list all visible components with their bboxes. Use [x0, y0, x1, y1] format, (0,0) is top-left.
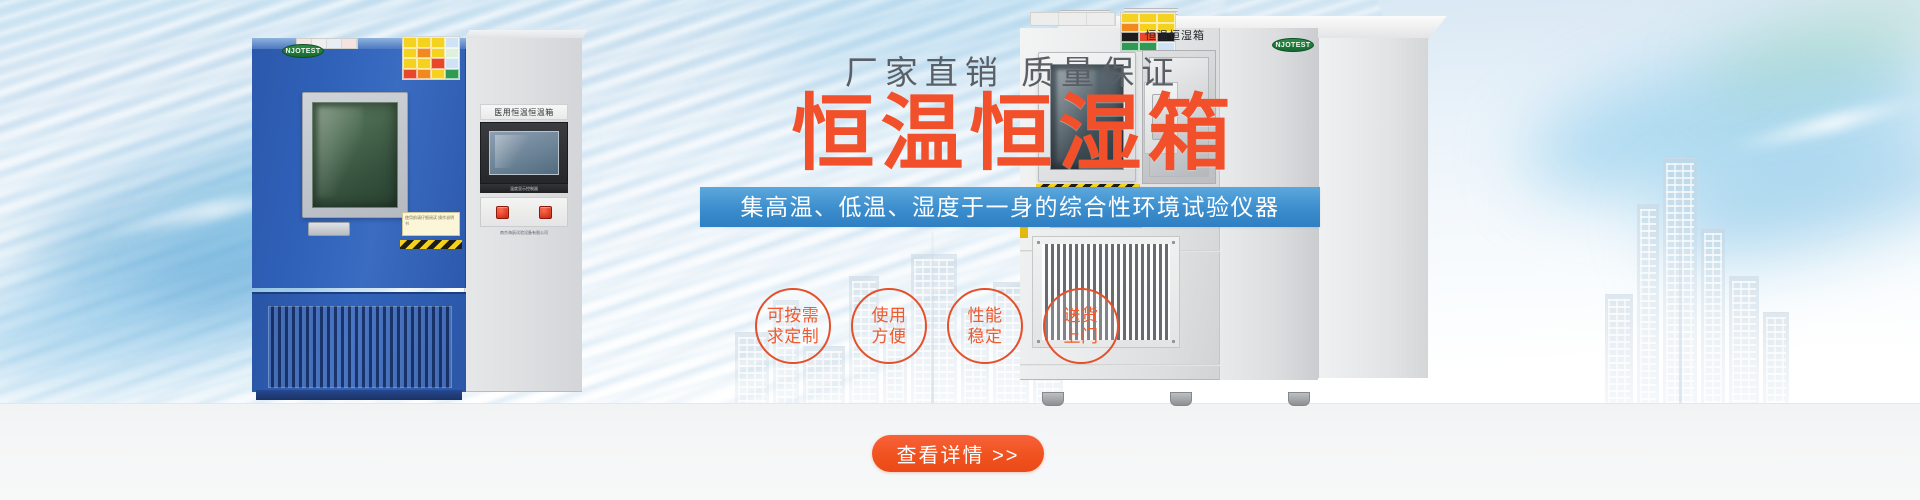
feature-badge-delivery[interactable]: 送货 上门 — [1043, 288, 1119, 364]
control-panel-display — [489, 131, 559, 175]
caster-wheel-icon — [1288, 392, 1310, 406]
manufacturer-line-left: 南京海辰试验设备有限公司 — [480, 228, 568, 237]
left-machine-base-plinth — [256, 390, 462, 400]
feature-badge-easy-use[interactable]: 使用 方便 — [851, 288, 927, 364]
left-machine-front-lower — [252, 292, 466, 392]
badge-line-1: 使用 — [872, 305, 907, 326]
badge-line-2: 上门 — [1064, 326, 1099, 347]
warning-label-strip-right — [1030, 12, 1116, 26]
view-details-button[interactable]: 查看详情 >> — [872, 435, 1044, 472]
power-buttons-row — [480, 197, 568, 227]
feature-badge-stable[interactable]: 性能 稳定 — [947, 288, 1023, 364]
right-machine-far-panel — [1318, 38, 1428, 378]
caster-wheel-icon — [1042, 392, 1064, 406]
product-left-constant-temp-chamber: NJOTEST 使用前请仔细阅读 操作说明书 医用恒温恒温箱 温度显示控制器 南… — [252, 30, 582, 402]
product-name-label-right: 恒温恒湿箱 — [1136, 26, 1214, 44]
subtitle-bar: 集高温、低温、湿度于一身的综合性环境试验仪器 — [700, 187, 1320, 227]
badge-line-1: 送货 — [1064, 305, 1099, 326]
feature-badge-custom[interactable]: 可按需 求定制 — [755, 288, 831, 364]
door-handle-left — [308, 222, 350, 236]
floor-horizon-line — [0, 403, 1920, 404]
badge-line-2: 方便 — [872, 326, 907, 347]
ventilation-grille — [268, 306, 452, 388]
display-caption: 温度显示控制器 — [480, 184, 568, 193]
hazard-stripe-icon — [400, 240, 462, 249]
caster-wheel-icon — [1170, 392, 1192, 406]
safety-instruction-sticker — [402, 36, 460, 80]
badge-line-2: 求定制 — [767, 326, 820, 347]
page-title: 恒温恒湿箱 — [700, 92, 1320, 177]
viewing-window-glass — [312, 102, 398, 208]
badge-line-1: 性能 — [968, 305, 1003, 326]
promo-banner: NJOTEST 使用前请仔细阅读 操作说明书 医用恒温恒温箱 温度显示控制器 南… — [0, 0, 1920, 500]
power-button-icon — [496, 206, 509, 219]
feature-badge-list: 可按需 求定制 使用 方便 性能 稳定 送货 上门 — [755, 288, 1275, 364]
control-panel-title: 医用恒温恒温箱 — [480, 104, 568, 120]
door-instruction-plate: 使用前请仔细阅读 操作说明书 — [402, 212, 460, 236]
headline-block: 厂家直销 质量保证 恒温恒湿箱 集高温、低温、湿度于一身的综合性环境试验仪器 — [700, 46, 1320, 227]
power-button-icon — [539, 206, 552, 219]
control-panel-bezel — [480, 122, 568, 184]
badge-line-2: 稳定 — [968, 326, 1003, 347]
badge-line-1: 可按需 — [767, 305, 820, 326]
brand-logo-left: NJOTEST — [282, 44, 324, 58]
viewing-window-frame — [302, 92, 408, 218]
